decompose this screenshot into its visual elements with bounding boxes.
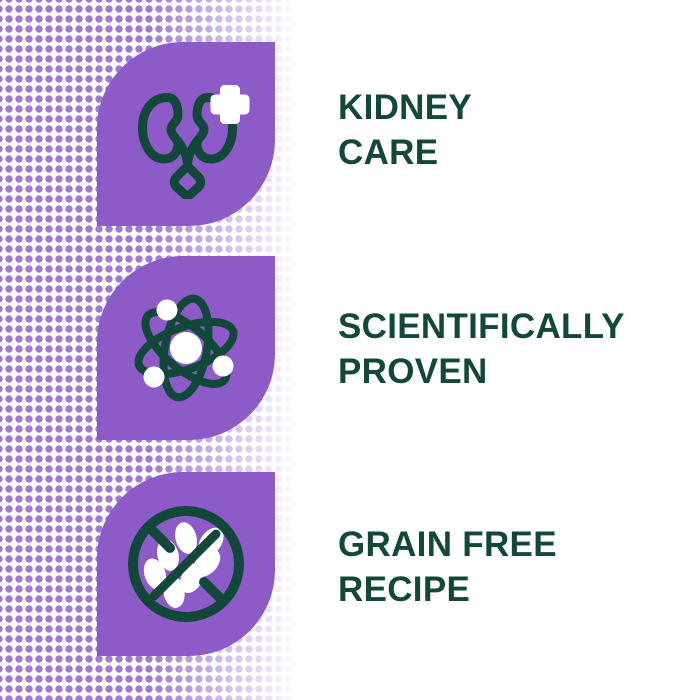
feature-label-scientifically-proven: SCIENTIFICALLY PROVEN <box>338 305 688 395</box>
atom-electron <box>144 367 165 388</box>
atom-electron <box>157 300 178 321</box>
feature-label-grain-free-recipe: GRAIN FREE RECIPE <box>338 523 688 613</box>
icon-wrapper <box>97 42 275 226</box>
no-grain-wheat-icon <box>122 500 250 628</box>
infographic-panel: KIDNEY CARE SCIENTIFICALLY PROVEN <box>0 0 700 700</box>
feature-badge-kidney-care <box>97 42 275 226</box>
feature-label-kidney-care: KIDNEY CARE <box>338 86 688 176</box>
icon-wrapper <box>97 256 275 440</box>
kidneys-medical-cross-icon <box>121 69 251 199</box>
icon-wrapper <box>97 472 275 656</box>
atom-icon <box>120 282 252 414</box>
atom-electron <box>213 356 234 377</box>
prohibition-slash-top <box>150 528 170 548</box>
feature-badge-grain-free-recipe <box>97 472 275 656</box>
atom-nucleus <box>170 332 202 364</box>
feature-badge-scientifically-proven <box>97 256 275 440</box>
prohibition-slash-bottom <box>204 582 223 601</box>
medical-cross-accent <box>211 85 250 124</box>
